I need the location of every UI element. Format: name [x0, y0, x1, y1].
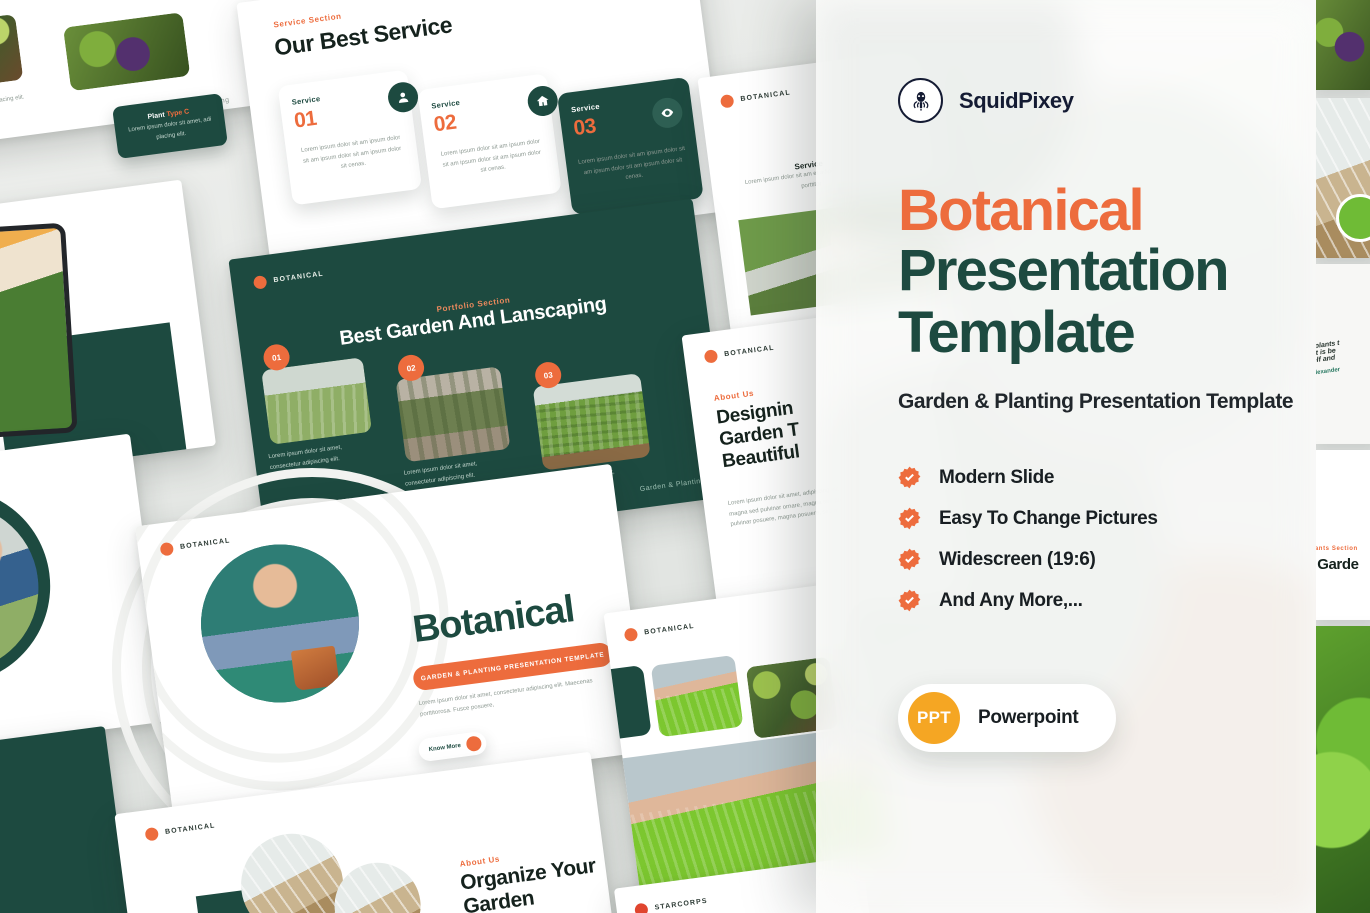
service-card-01-body: Lorem ipsum dolor sit am ipsum dolor sit… — [298, 133, 407, 178]
page-title-accent: Botanical — [898, 181, 1316, 240]
brand-dot-icon — [160, 542, 175, 557]
portfolio-title: Best Garden And Lanscaping — [338, 285, 668, 351]
page-subtitle: Garden & Planting Presentation Template — [898, 390, 1316, 414]
home-icon — [526, 84, 560, 118]
garden-right-title: r Garde — [1316, 556, 1359, 573]
info-panel: SquidPixey Botanical Presentation Templa… — [816, 0, 1316, 913]
about-eyebrow: About Us — [713, 389, 754, 403]
brand-label: BOTANICAL — [165, 822, 216, 836]
screenshot-stage: Garden Plant Type B Lorem ipsum dolor si… — [0, 0, 1370, 913]
sliver-photo-crops — [1316, 626, 1370, 913]
service-card-01[interactable]: Service 01 Lorem ipsum dolor sit am ipsu… — [278, 70, 423, 206]
eye-icon — [651, 96, 685, 130]
brand-label: BOTANICAL — [740, 89, 791, 103]
service-card-02-body: Lorem ipsum dolor sit am ipsum dolor sit… — [437, 136, 546, 181]
page-title-line2: Presentation — [898, 240, 1316, 302]
organize-brand: BOTANICAL — [145, 819, 217, 841]
tablet-screen — [0, 223, 78, 442]
plant-photo-c — [63, 12, 190, 91]
feature-label: Modern Slide — [939, 467, 1054, 489]
portfolio-brand: BOTANICAL — [253, 268, 325, 290]
crops-brand: BOTANICAL — [624, 620, 696, 642]
check-badge-icon — [898, 466, 921, 489]
service-card-01-label: Service — [291, 94, 321, 107]
brand-name: SquidPixey — [959, 88, 1074, 114]
plant-photo-b — [0, 14, 23, 95]
service-card-03[interactable]: Service 03 Lorem ipsum dolor sit am ipsu… — [557, 77, 704, 215]
portfolio-footer: Garden & Planting — [639, 478, 705, 494]
quote-attribution: - Alexander — [1316, 367, 1343, 378]
brand-logo[interactable]: SquidPixey — [898, 78, 1316, 123]
plants-title: Garden — [0, 0, 54, 9]
check-badge-icon — [898, 507, 921, 530]
person-icon — [386, 80, 420, 114]
brand-label: BOTANICAL — [644, 623, 695, 637]
brand-label: STARCORPS — [654, 898, 708, 912]
quote-line-3: rself and — [1316, 354, 1342, 366]
arrow-dot-icon — [466, 735, 483, 752]
service-card-03-label: Service — [571, 102, 601, 115]
service-card-02-label: Service — [431, 98, 461, 111]
garden-right-eyebrow: Plants Section — [1316, 546, 1358, 552]
slide-steps[interactable]: Step Number 03 Lorem ipsum dolor sit ips… — [0, 726, 133, 913]
feature-item: Widescreen (19:6) — [898, 548, 1316, 571]
feature-item: And Any More,... — [898, 589, 1316, 612]
service-side-brand: BOTANICAL — [720, 86, 792, 108]
service-card-03-number: 03 — [572, 115, 597, 139]
feature-label: And Any More,... — [939, 590, 1083, 612]
feature-label: Easy To Change Pictures — [939, 508, 1158, 530]
service-card-02[interactable]: Service 02 Lorem ipsum dolor sit am ipsu… — [417, 73, 562, 209]
service-card-03-body: Lorem ipsum dolor sit am ipsum dolor sit… — [577, 144, 688, 189]
brand-dot-icon — [720, 94, 735, 109]
squid-logo-icon — [898, 78, 943, 123]
brand-label: BOTANICAL — [724, 345, 775, 359]
feature-item: Easy To Change Pictures — [898, 507, 1316, 530]
brand-dot-icon — [145, 827, 160, 842]
brand-dot-icon — [634, 903, 649, 913]
brand-dot-icon — [253, 275, 268, 290]
brand-label: BOTANICAL — [273, 271, 324, 285]
format-label: Powerpoint — [978, 707, 1078, 729]
page-title-line3: Template — [898, 302, 1316, 364]
hero-photo-circle — [191, 535, 368, 712]
feature-item: Modern Slide — [898, 466, 1316, 489]
feature-list: Modern Slide Easy To Change Pictures Wid… — [898, 466, 1316, 612]
ppt-icon: PPT — [908, 692, 960, 744]
know-more-button[interactable]: Know More — [417, 731, 488, 763]
about-brand: BOTANICAL — [704, 342, 776, 364]
right-slide-sliver: ng plants t that is be rself and - Alexa… — [1316, 0, 1370, 913]
check-badge-icon — [898, 589, 921, 612]
sliver-slide-greenhouse — [1316, 98, 1370, 258]
crops-photo-1 — [651, 655, 744, 737]
brand-dot-icon — [624, 627, 639, 642]
check-badge-icon — [898, 548, 921, 571]
sliver-slide-quote: ng plants t that is be rself and - Alexa… — [1316, 264, 1370, 444]
feature-label: Widescreen (19:6) — [939, 549, 1096, 571]
plant-card-b-body: Lorem ipsum dolor sit amet, adi placing … — [0, 92, 32, 119]
plant-card-c-body: Lorem ipsum dolor sit amet, adi placing … — [124, 114, 218, 147]
brand-dot-icon — [704, 349, 719, 364]
plant-card-c-title-prefix: Plant — [147, 111, 167, 120]
sliver-slide-garden: Plants Section r Garde — [1316, 450, 1370, 620]
starcorps-brand: STARCORPS — [634, 895, 708, 913]
service-card-01-number: 01 — [293, 108, 318, 132]
format-badge[interactable]: PPT Powerpoint — [898, 684, 1116, 752]
organize-photo-2 — [329, 858, 425, 913]
service-card-02-number: 02 — [433, 112, 458, 136]
know-more-label: Know More — [428, 742, 461, 752]
sliver-photo-leaves — [1316, 0, 1370, 90]
